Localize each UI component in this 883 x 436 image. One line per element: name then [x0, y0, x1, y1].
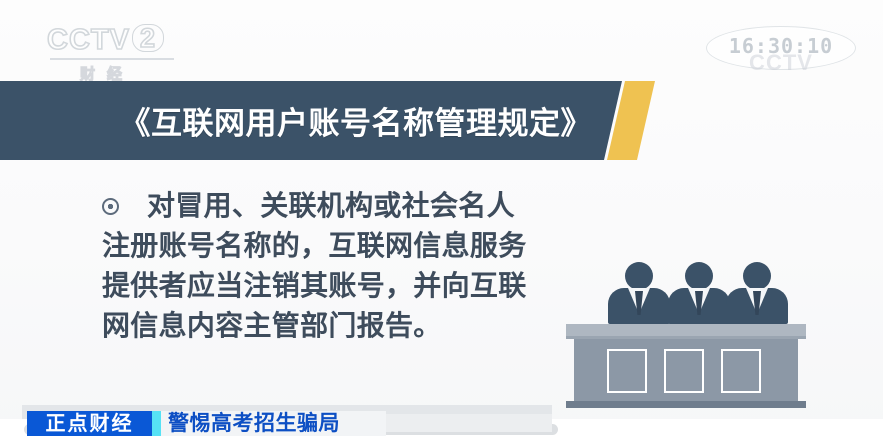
body-line: 提供者应当注销其账号，并向互联 [102, 266, 602, 306]
officials-at-podium-illustration [566, 262, 818, 414]
channel-logo: CCTV2 财经 [47, 24, 197, 80]
official-figure-icon [608, 262, 670, 324]
official-figure-icon [668, 262, 730, 324]
figure-head [685, 262, 713, 290]
podium-front [574, 339, 798, 401]
podium-base [566, 401, 806, 408]
broadcast-screen: CCTV2 财经 CCTV 16:30:10 《互联网用户账号名称管理规定》 对… [0, 0, 883, 436]
figure-head [743, 262, 771, 290]
program-name-label: 正点财经 [46, 413, 134, 435]
figure-head [625, 262, 653, 290]
body-line: 对冒用、关联机构或社会名人 [102, 186, 602, 226]
podium-panel [721, 349, 761, 393]
program-name-badge: 正点财经 [27, 411, 152, 436]
body-line-text: 对冒用、关联机构或社会名人 [147, 186, 515, 226]
ticker-topic-label: 警惕高考招生骗局 [168, 412, 340, 435]
ticker-divider [152, 411, 161, 436]
body-text-block: 对冒用、关联机构或社会名人 注册账号名称的，互联网信息服务 提供者应当注销其账号… [102, 186, 602, 346]
ticker-tail-panel [386, 414, 552, 432]
podium-panel [664, 349, 704, 393]
logo-underline [50, 58, 174, 60]
body-line: 网信息内容主管部门报告。 [102, 306, 602, 346]
official-figure-icon [726, 262, 788, 324]
ticker-topic-panel: 警惕高考招生骗局 [161, 411, 386, 436]
cctv-wordmark: CCTV2 [47, 24, 197, 55]
circle-dot-bullet-icon [102, 198, 119, 215]
channel-number: 2 [132, 24, 164, 52]
podium-panel [607, 349, 647, 393]
on-screen-clock: CCTV 16:30:10 [706, 26, 856, 70]
headline-title: 《互联网用户账号名称管理规定》 [0, 81, 600, 160]
clock-time: 16:30:10 [729, 34, 833, 58]
cctv-letters: CCTV [47, 24, 130, 56]
body-line: 注册账号名称的，互联网信息服务 [102, 226, 602, 266]
